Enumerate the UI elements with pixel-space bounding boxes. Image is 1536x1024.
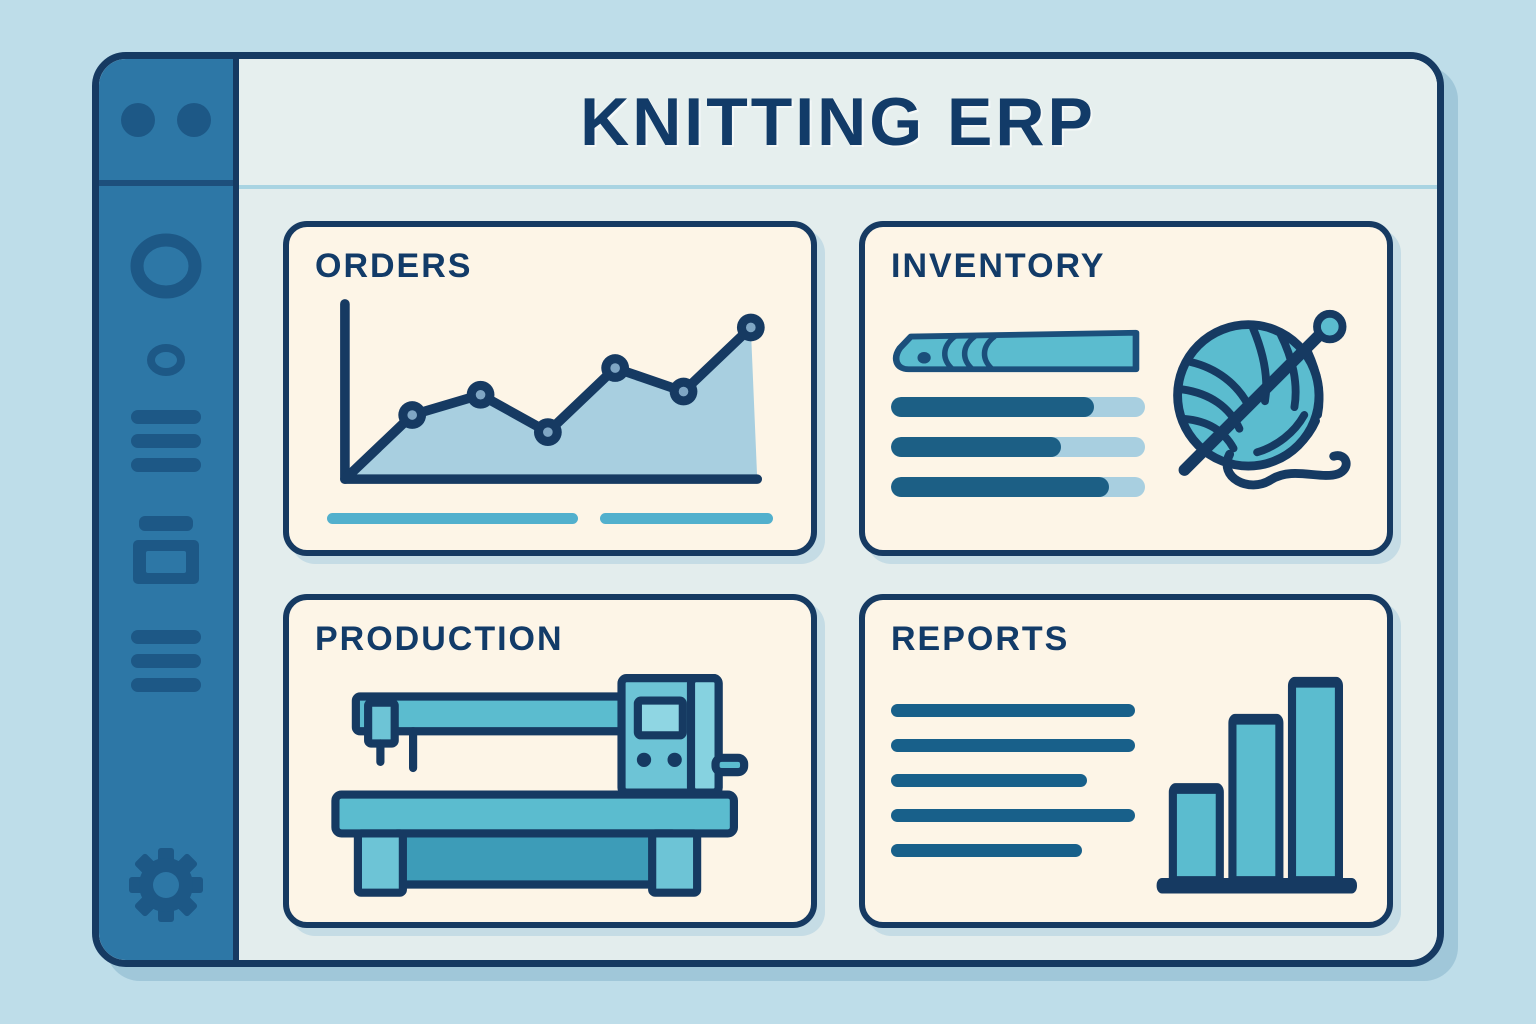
report-bar-2 [1233,719,1280,881]
card-inventory[interactable]: INVENTORY [859,221,1393,556]
list-lines-icon [129,628,203,694]
inventory-stock-list [891,319,1145,497]
yarn-ball-with-needle-icon [1155,305,1361,511]
card-reports-body [891,662,1361,901]
report-line-1 [891,704,1135,717]
card-production-title: PRODUCTION [315,622,785,656]
card-grid: ORDERS [239,189,1437,967]
gear-icon[interactable] [128,847,204,923]
reports-text-lines [891,704,1135,857]
caption-bar-narrow [600,513,773,524]
stock-bar-2-fill [891,437,1061,457]
sidebar-item-status[interactable] [99,342,233,378]
card-orders-title: ORDERS [315,249,785,283]
report-line-2 [891,739,1135,752]
page-title: KNITTING ERP [580,83,1096,161]
window-dot-2-icon[interactable] [177,103,211,137]
sidebar-title-bar [99,59,233,186]
caption-bar-wide [327,513,578,524]
report-line-5 [891,844,1082,857]
window-card-icon [129,514,203,588]
list-lines-icon [129,408,203,474]
app-window: KNITTING ERP ORDERS [92,52,1444,967]
stock-bar-3-fill [891,477,1109,497]
reports-bar-chart-wrap [1153,662,1361,901]
card-reports[interactable]: REPORTS [859,594,1393,929]
orders-captions [315,503,785,528]
reports-bar-chart [1153,662,1361,901]
window-dot-1-icon[interactable] [121,103,155,137]
sidebar [99,59,239,960]
orders-chart-wrap [315,289,785,528]
card-inventory-title: INVENTORY [891,249,1361,283]
card-orders-body [315,289,785,528]
report-bar-baseline [1157,878,1357,894]
sidebar-nav [99,186,233,810]
stock-bar-1 [891,397,1145,417]
card-inventory-body [891,289,1361,528]
fabric-roll-icon [891,325,1145,377]
small-circle-outline-icon [144,342,188,378]
stock-bar-1-fill [891,397,1094,417]
orders-area-chart [315,289,785,503]
knitting-machine-icon [315,662,785,901]
card-production[interactable]: PRODUCTION [283,594,817,929]
inventory-yarn-wrap [1155,305,1361,511]
header: KNITTING ERP [239,59,1437,189]
sidebar-item-production[interactable] [99,514,233,588]
sidebar-item-dashboard[interactable] [99,230,233,302]
sidebar-item-reports[interactable] [99,628,233,694]
stock-bar-3 [891,477,1145,497]
main-content: KNITTING ERP ORDERS [239,59,1437,960]
sidebar-item-orders[interactable] [99,408,233,474]
sidebar-footer [99,810,233,960]
circle-outline-icon [130,230,202,302]
stock-bar-2 [891,437,1145,457]
report-bar-3 [1292,682,1339,881]
report-line-3 [891,774,1087,787]
report-bar-1 [1173,788,1220,881]
card-production-body [315,662,785,901]
card-orders[interactable]: ORDERS [283,221,817,556]
report-line-4 [891,809,1135,822]
card-reports-title: REPORTS [891,622,1361,656]
